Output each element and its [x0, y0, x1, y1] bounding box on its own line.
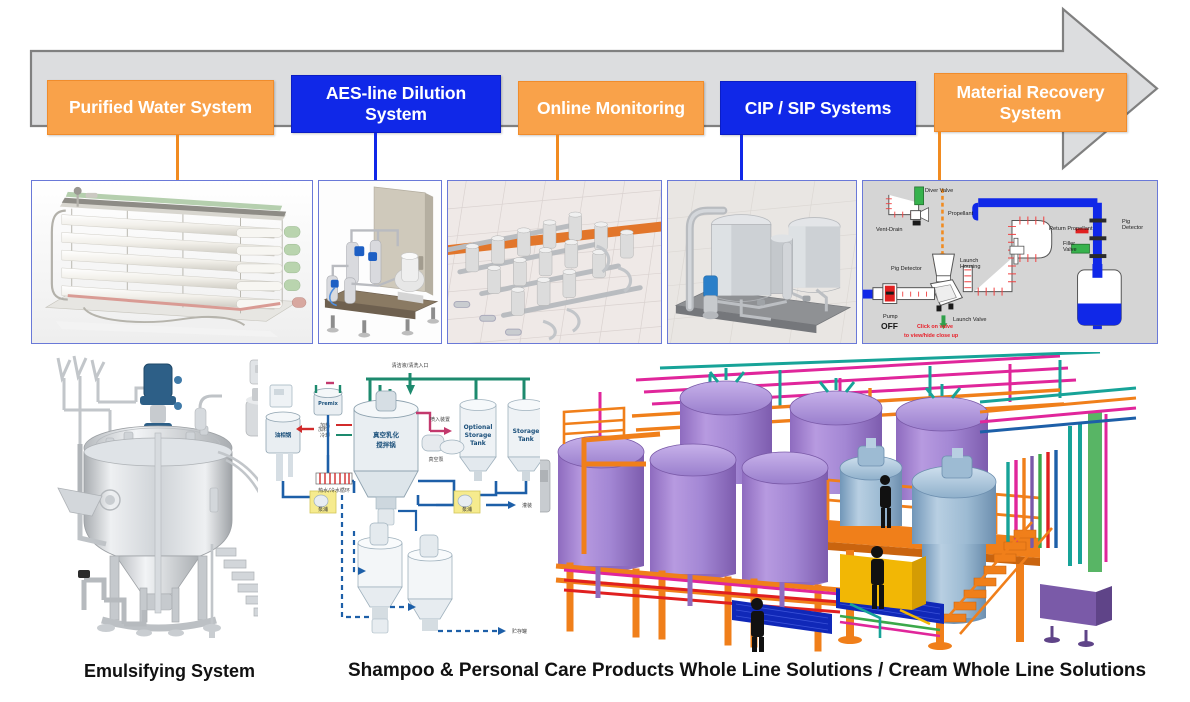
caption-emulsifying-system: Emulsifying System	[84, 661, 255, 682]
stage-box-online-monitoring[interactable]: Online Monitoring	[518, 81, 704, 135]
stage-box-cip-sip[interactable]: CIP / SIP Systems	[720, 81, 916, 135]
svg-text:真空乳化: 真空乳化	[373, 430, 400, 439]
label-pig-detector-right: Pig Detector	[1122, 219, 1148, 232]
panel-dilution-skid[interactable]	[318, 180, 442, 344]
svg-text:泵浦: 泵浦	[318, 506, 328, 513]
label-pig-detector-left: Pig Detector	[891, 266, 922, 272]
dilution-skid-image	[319, 181, 441, 343]
stage-box-aes-dilution[interactable]: AES-line Dilution System	[291, 75, 501, 133]
plant-3d-model	[540, 352, 1185, 652]
label-diverter-valve: Diver Valve	[925, 188, 953, 194]
panel-ro-membrane-skid[interactable]	[31, 180, 313, 344]
stage-box-purified-water[interactable]: Purified Water System	[47, 80, 274, 135]
label-propellant: Propellant	[948, 211, 973, 217]
label-launch-valve: Launch Valve	[953, 317, 986, 323]
svg-text:热水/冷水循环: 热水/冷水循环	[318, 487, 350, 494]
svg-text:Tank: Tank	[518, 436, 535, 443]
panel-valve-manifold[interactable]	[447, 180, 662, 344]
valve-manifold-image	[448, 181, 661, 343]
panel-pigging-diagram[interactable]: Diver Valve Vent-Drain Propellant Pig De…	[862, 180, 1158, 344]
pigging-diagram-image	[863, 181, 1157, 343]
label-pump-state: OFF	[881, 322, 898, 332]
svg-text:油相锅: 油相锅	[275, 431, 292, 439]
panel-cip-skid[interactable]	[667, 180, 857, 344]
svg-text:灌装: 灌装	[522, 502, 532, 509]
svg-text:Storage: Storage	[513, 428, 540, 435]
svg-text:喷入装置: 喷入装置	[430, 416, 450, 423]
label-launch-housing: Launch Housing	[960, 258, 994, 271]
svg-text:Storage: Storage	[465, 432, 492, 439]
svg-text:Optional: Optional	[464, 424, 493, 431]
svg-text:清洁液/清洗入口: 清洁液/清洗入口	[392, 362, 429, 369]
flow-schematic-illustration: 清洁液/清洗入口 Optional Storage Tank	[258, 355, 548, 640]
svg-text:真空泵: 真空泵	[428, 456, 443, 463]
stage-label: Online Monitoring	[537, 98, 685, 119]
hint-line-1: Click on valve	[917, 324, 953, 330]
svg-text:Tank: Tank	[470, 440, 487, 447]
label-return-propellant: Return Propellant	[1049, 226, 1093, 232]
stage-label: CIP / SIP Systems	[745, 98, 892, 119]
plant-3d-illustration	[540, 352, 1185, 652]
stage-label: AES-line Dilution System	[298, 83, 494, 124]
hint-line-2: to view/hide close up	[904, 333, 958, 339]
svg-text:贮存罐: 贮存罐	[512, 628, 527, 635]
svg-text:加料: 加料	[318, 426, 328, 433]
slide-canvas: Purified Water System AES-line Dilution …	[0, 0, 1190, 702]
process-flow-schematic: 清洁液/清洗入口 Optional Storage Tank	[258, 355, 548, 640]
ro-membrane-skid-image	[32, 181, 312, 343]
cip-skid-image	[668, 181, 856, 343]
stage-box-material-recovery[interactable]: Material Recovery System	[934, 73, 1127, 132]
label-vent-drain: Vent-Drain	[876, 227, 902, 233]
label-pump: Pump	[883, 314, 898, 320]
caption-whole-line-solutions: Shampoo & Personal Care Products Whole L…	[348, 660, 1146, 682]
stage-label: Material Recovery System	[941, 82, 1120, 123]
stage-label: Purified Water System	[69, 97, 252, 118]
svg-text:Premix: Premix	[318, 401, 338, 407]
svg-text:搅拌锅: 搅拌锅	[376, 440, 396, 449]
label-filler-valve: Filler Valve	[1063, 241, 1087, 254]
svg-text:泵浦: 泵浦	[462, 506, 472, 513]
